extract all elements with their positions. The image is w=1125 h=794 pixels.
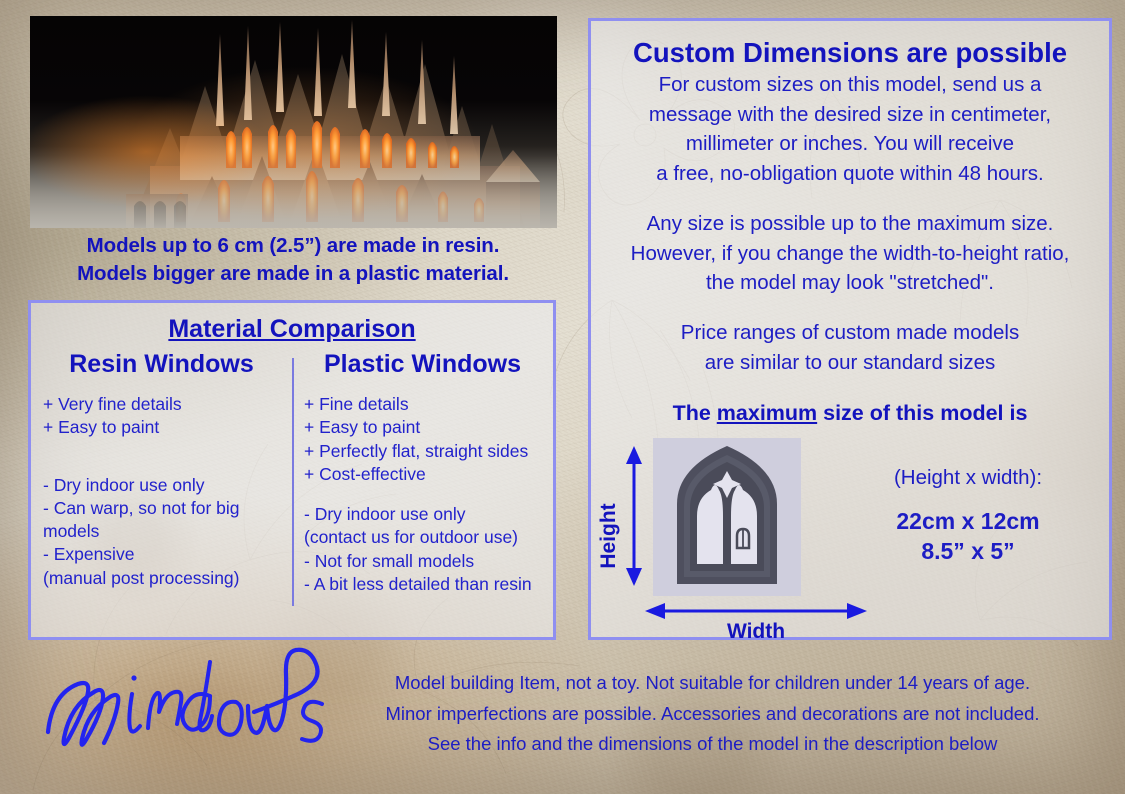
- custom-dimensions-paragraph-2: Any size is possible up to the maximum s…: [591, 209, 1109, 298]
- paragraph-line: the model may look "stretched".: [591, 268, 1109, 298]
- material-comparison-panel: Material Comparison Resin Windows + Very…: [28, 300, 556, 640]
- dimensions-metric: 22cm x 12cm: [843, 508, 1093, 535]
- spacer: [591, 377, 1109, 397]
- paragraph-line: However, if you change the width-to-heig…: [591, 239, 1109, 269]
- custom-dimensions-title: Custom Dimensions are possible: [591, 37, 1109, 69]
- resin-pro: + Very fine details: [43, 393, 280, 416]
- plastic-con: - A bit less detailed than resin: [304, 573, 541, 596]
- resin-column: Resin Windows + Very fine details + Easy…: [31, 346, 292, 596]
- width-arrow-icon: [645, 600, 867, 622]
- disclaimer-line: Model building Item, not a toy. Not suit…: [345, 668, 1080, 699]
- plastic-con: - Dry indoor use only: [304, 503, 541, 526]
- custom-dimensions-paragraph-3: Price ranges of custom made models are s…: [591, 318, 1109, 377]
- paragraph-line: Price ranges of custom made models: [591, 318, 1109, 348]
- paragraph-line: Any size is possible up to the maximum s…: [591, 209, 1109, 239]
- gothic-cathedral-image: [30, 16, 557, 228]
- resin-con: - Dry indoor use only: [43, 474, 280, 497]
- maximum-size-title: The maximum size of this model is: [591, 401, 1109, 426]
- max-size-post: size of this model is: [817, 401, 1027, 425]
- paragraph-line: are similar to our standard sizes: [591, 348, 1109, 378]
- column-divider: [292, 358, 294, 606]
- disclaimer-line: See the info and the dimensions of the m…: [345, 729, 1080, 760]
- max-size-underlined: maximum: [717, 401, 817, 425]
- windows-script-logo: [40, 648, 330, 768]
- spacer: [43, 440, 280, 457]
- dimensions-imperial: 8.5” x 5”: [843, 538, 1093, 565]
- paragraph-line: For custom sizes on this model, send us …: [591, 70, 1109, 100]
- paragraph-line: millimeter or inches. You will receive: [591, 129, 1109, 159]
- disclaimer-line: Minor imperfections are possible. Access…: [345, 699, 1080, 730]
- plastic-column-heading: Plastic Windows: [304, 350, 541, 379]
- resin-pro: + Easy to paint: [43, 416, 280, 439]
- spacer: [304, 486, 541, 503]
- resin-con: - Expensive: [43, 543, 280, 566]
- brand-logo-windows: Windows: [40, 648, 330, 768]
- plastic-con: (contact us for outdoor use): [304, 526, 541, 549]
- resin-note-line-2: Models bigger are made in a plastic mate…: [28, 260, 558, 288]
- plastic-con: - Not for small models: [304, 550, 541, 573]
- disclaimer-text: Model building Item, not a toy. Not suit…: [345, 668, 1080, 760]
- resin-column-heading: Resin Windows: [43, 350, 280, 379]
- material-comparison-title: Material Comparison: [31, 315, 553, 344]
- plastic-column: Plastic Windows + Fine details + Easy to…: [292, 346, 553, 596]
- resin-con: - Can warp, so not for big models: [43, 497, 280, 544]
- spacer: [591, 189, 1109, 209]
- spacer: [591, 298, 1109, 318]
- paragraph-line: message with the desired size in centime…: [591, 100, 1109, 130]
- width-label: Width: [727, 620, 785, 644]
- height-arrow-icon: [623, 446, 645, 586]
- dimension-diagram: Height: [591, 432, 1109, 650]
- resin-con: (manual post processing): [43, 567, 280, 590]
- hero-warm-glow: [30, 16, 557, 228]
- height-label: Height: [597, 504, 621, 569]
- dimensions-text-block: (Height x width): 22cm x 12cm 8.5” x 5”: [843, 466, 1093, 565]
- dimensions-caption: (Height x width):: [843, 466, 1093, 490]
- material-comparison-columns: Resin Windows + Very fine details + Easy…: [31, 346, 553, 596]
- window-model-photo: [653, 438, 801, 596]
- plastic-pro: + Perfectly flat, straight sides: [304, 440, 541, 463]
- custom-dimensions-panel: Custom Dimensions are possible For custo…: [588, 18, 1112, 640]
- plastic-pro: + Easy to paint: [304, 416, 541, 439]
- paragraph-line: a free, no-obligation quote within 48 ho…: [591, 159, 1109, 189]
- plastic-pro: + Cost-effective: [304, 463, 541, 486]
- resin-note-line-1: Models up to 6 cm (2.5”) are made in res…: [28, 232, 558, 260]
- custom-dimensions-paragraph-1: For custom sizes on this model, send us …: [591, 70, 1109, 189]
- gothic-window-shape: [653, 438, 801, 596]
- max-size-pre: The: [673, 401, 717, 425]
- plastic-pro: + Fine details: [304, 393, 541, 416]
- resin-note: Models up to 6 cm (2.5”) are made in res…: [28, 232, 558, 287]
- spacer: [43, 457, 280, 474]
